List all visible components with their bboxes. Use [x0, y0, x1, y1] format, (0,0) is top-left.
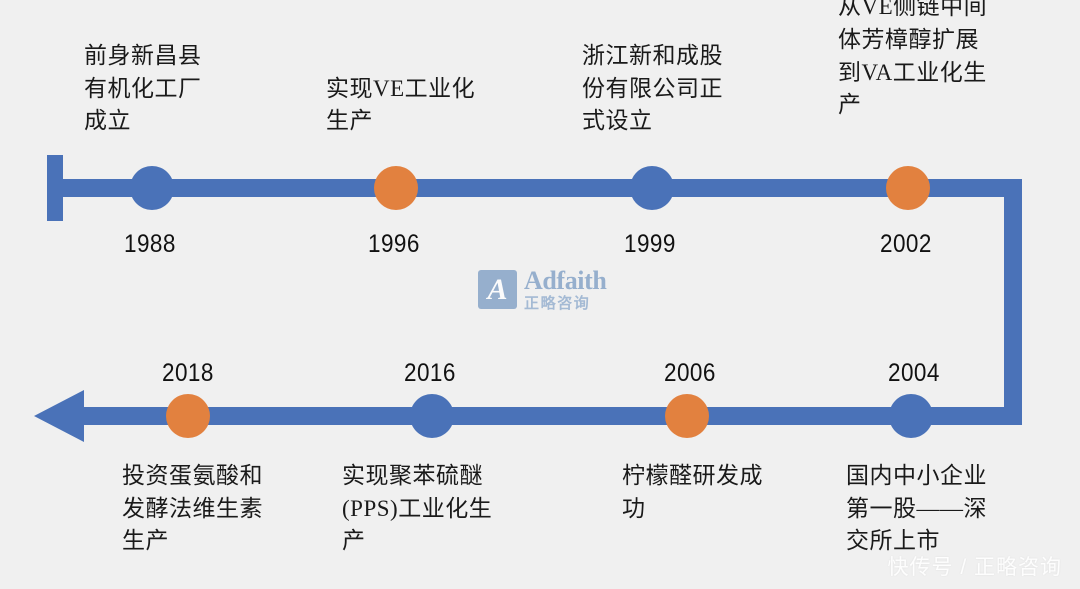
milestone-2006-description: 柠檬醛研发成 功: [622, 460, 763, 525]
milestone-1988-description: 前身新昌县 有机化工厂 成立: [84, 40, 202, 138]
milestone-2018-year: 2018: [162, 359, 214, 388]
milestone-2016-description: 实现聚苯硫醚 (PPS)工业化生 产: [342, 460, 492, 558]
milestone-2006-year: 2006: [664, 359, 716, 388]
milestone-2004-year: 2004: [888, 359, 940, 388]
milestone-1996: 实现VE工业化 生产 1996: [326, 44, 526, 258]
adfaith-logo-icon: A: [478, 270, 517, 309]
brand-watermark: A Adfaith 正略咨询: [478, 268, 606, 311]
milestone-1988: 前身新昌县 有机化工厂 成立 1988: [84, 44, 284, 258]
timeline-arrow-head-icon: [34, 390, 84, 442]
corner-watermark: 快传号 / 正略咨询: [887, 551, 1062, 581]
milestone-2002: 从VE侧链中间 体芳樟醇扩展 到VA工业化生 产 2002: [838, 28, 1048, 258]
brand-watermark-text: Adfaith 正略咨询: [524, 268, 606, 311]
milestone-1999-description: 浙江新和成股 份有限公司正 式设立: [582, 40, 723, 138]
milestone-2016-year: 2016: [404, 359, 456, 388]
milestone-2004: 2004 国内中小企业 第一股——深 交所上市: [846, 344, 1061, 564]
milestone-1996-description: 实现VE工业化 生产: [326, 73, 475, 138]
timeline-start-cap: [47, 155, 63, 221]
milestone-2006: 2006 柠檬醛研发成 功: [622, 344, 832, 564]
timeline-canvas: 前身新昌县 有机化工厂 成立 1988 实现VE工业化 生产 1996 浙江新和…: [0, 0, 1080, 589]
milestone-2002-year: 2002: [880, 230, 932, 259]
milestone-2018-description: 投资蛋氨酸和 发酵法维生素 生产: [122, 460, 263, 558]
milestone-2004-description: 国内中小企业 第一股——深 交所上市: [846, 460, 987, 558]
brand-name-en: Adfaith: [524, 268, 606, 294]
milestone-2016: 2016 实现聚苯硫醚 (PPS)工业化生 产: [342, 344, 557, 564]
milestone-2002-description: 从VE侧链中间 体芳樟醇扩展 到VA工业化生 产: [838, 0, 987, 122]
milestone-1999: 浙江新和成股 份有限公司正 式设立 1999: [582, 44, 782, 258]
milestone-2018: 2018 投资蛋氨酸和 发酵法维生素 生产: [122, 344, 332, 564]
milestone-1988-year: 1988: [124, 230, 176, 259]
adfaith-logo-letter: A: [478, 270, 517, 309]
milestone-1996-year: 1996: [368, 230, 420, 259]
brand-name-cn: 正略咨询: [524, 296, 606, 311]
milestone-1999-year: 1999: [624, 230, 676, 259]
